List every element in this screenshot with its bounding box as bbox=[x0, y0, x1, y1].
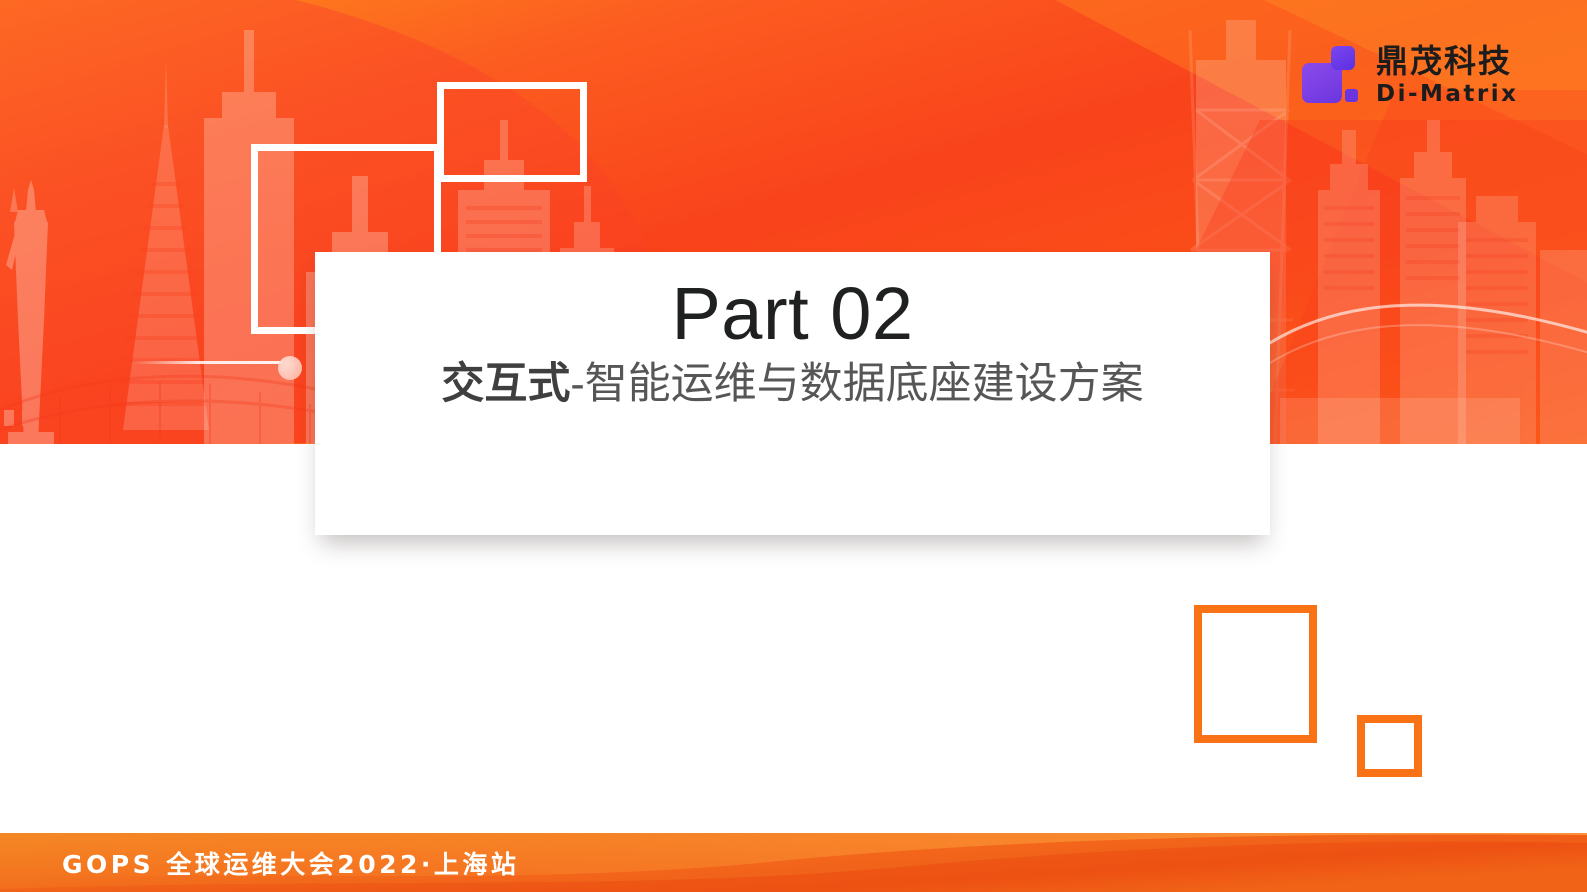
slide-root: 鼎茂科技 Di-Matrix Part 02 交互式-智能运维与数据底座建设方案 bbox=[0, 0, 1587, 892]
decor-accent-dot bbox=[278, 356, 302, 380]
title-card: Part 02 交互式-智能运维与数据底座建设方案 bbox=[315, 252, 1270, 535]
slide-subtitle: 交互式-智能运维与数据底座建设方案 bbox=[441, 357, 1143, 412]
logo-square-small bbox=[1345, 89, 1358, 102]
di-matrix-logo-mark-icon bbox=[1300, 44, 1362, 106]
company-logo: 鼎茂科技 Di-Matrix bbox=[1300, 34, 1530, 116]
logo-square-medium bbox=[1331, 46, 1355, 70]
decor-orange-square-small bbox=[1357, 715, 1422, 777]
logo-company-name-cn: 鼎茂科技 bbox=[1376, 45, 1519, 77]
logo-wordmark: 鼎茂科技 Di-Matrix bbox=[1376, 45, 1519, 106]
footer-bar: GOPS 全球运维大会2022·上海站 bbox=[0, 833, 1587, 892]
decor-white-rectangle-top bbox=[437, 82, 587, 182]
part-number-heading: Part 02 bbox=[671, 276, 913, 351]
subtitle-emphasis: 交互式 bbox=[441, 360, 570, 408]
logo-company-name-en: Di-Matrix bbox=[1376, 83, 1519, 106]
footer-conference-title: GOPS 全球运维大会2022·上海站 bbox=[62, 833, 519, 892]
decor-accent-line bbox=[132, 361, 282, 364]
subtitle-rest: -智能运维与数据底座建设方案 bbox=[570, 360, 1143, 408]
decor-orange-square-large bbox=[1194, 605, 1317, 743]
